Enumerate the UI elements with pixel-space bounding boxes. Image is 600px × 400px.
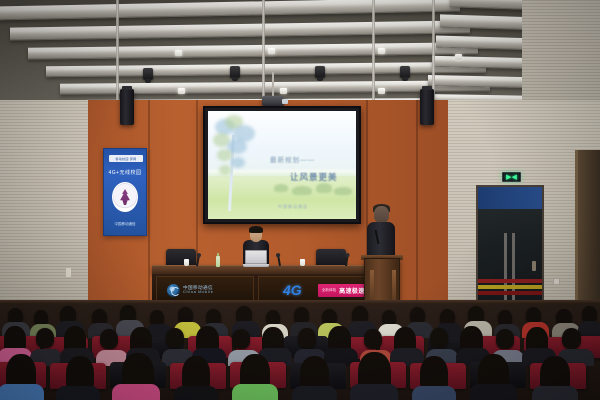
exit-doorway[interactable] — [476, 185, 544, 315]
ceiling-downlight — [455, 54, 462, 60]
presenter-head — [374, 206, 389, 223]
projection-screen[interactable]: 最新规划—— 让风景更美 中国移动通信 — [203, 106, 361, 224]
university-crest-icon — [112, 182, 138, 212]
ceiling-downlight — [268, 48, 275, 54]
projector-lens — [282, 99, 288, 104]
banner-top-strip-text: 移动校园 梦网 — [116, 157, 137, 161]
slide-tree-illustration — [211, 113, 263, 213]
slide-byline: 中国移动通信 — [278, 204, 308, 210]
wall-loudspeaker-right — [420, 89, 434, 125]
wall-outlet-plate — [66, 268, 71, 277]
ceiling-downlight — [175, 50, 182, 56]
projection-screen-surface: 最新规划—— 让风景更美 中国移动通信 — [208, 111, 356, 219]
banner-top-strip: 移动校园 梦网 — [109, 155, 143, 162]
banner-heading: 4G+无线校园 — [104, 169, 146, 176]
running-man-exit-icon: ▶◀ — [506, 174, 517, 181]
presenter-laptop[interactable] — [243, 250, 269, 267]
ceiling-spotlight — [400, 66, 410, 78]
auditorium-scene: 最新规划—— 让风景更美 中国移动通信 移动校园 梦网 4G+无线校园 中国移动… — [0, 0, 600, 400]
ceiling-downlight — [378, 88, 385, 94]
4g-campaign-label: 4G — [283, 282, 302, 298]
china-mobile-brand-en: China Mobile — [183, 290, 214, 295]
slide-bush — [316, 183, 332, 193]
wall-loudspeaker-left — [120, 89, 134, 125]
ceiling-downlight — [178, 88, 185, 94]
exit-sign: ▶◀ — [502, 172, 521, 182]
ceiling-projector — [262, 96, 284, 106]
ceiling-spotlight — [230, 66, 240, 78]
standing-banner: 移动校园 梦网 4G+无线校园 中国移动通信 — [103, 148, 147, 236]
slide-bush — [292, 186, 312, 195]
door-handle[interactable] — [532, 261, 536, 271]
seated-host-hair — [249, 226, 263, 233]
projector-mount-rod — [272, 72, 274, 97]
wall-light-switch[interactable] — [553, 278, 560, 285]
slide-bush — [334, 187, 352, 195]
water-bottle[interactable] — [216, 256, 220, 267]
campaign-tag-small: 全新体验 — [322, 288, 336, 293]
paper-cup[interactable] — [184, 259, 189, 266]
ceiling-downlight — [378, 48, 385, 54]
banner-footer: 中国移动通信 — [104, 222, 146, 227]
china-mobile-logo-icon — [167, 284, 180, 297]
slide-subheading: 让风景更美 — [290, 171, 338, 183]
secondary-doorway[interactable] — [575, 150, 600, 320]
campaign-tag-big: 高速极速 — [339, 286, 365, 295]
ceiling-spotlight — [315, 66, 325, 78]
ceiling-spotlight — [143, 68, 153, 80]
door-header-panel — [478, 187, 542, 209]
ceiling-downlight — [280, 88, 287, 94]
slide-bush — [274, 184, 288, 192]
slide-headline: 最新规划—— — [270, 154, 315, 164]
audience-seating-area — [0, 300, 600, 400]
campaign-tag: 全新体验 高速极速 — [318, 284, 369, 297]
paper-cup[interactable] — [300, 259, 305, 266]
